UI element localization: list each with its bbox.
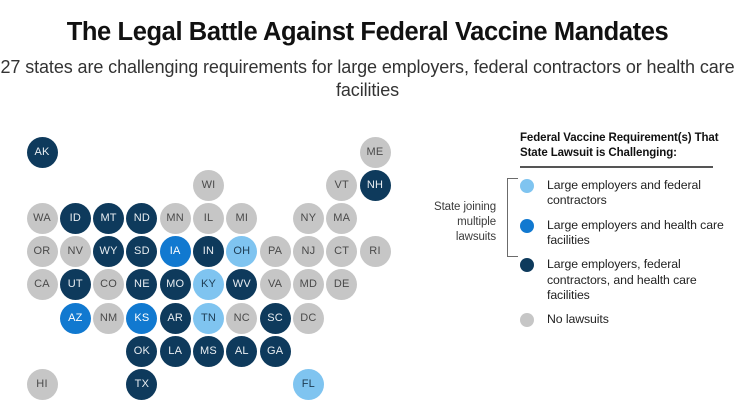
state-abbr-label: LA [168,346,182,357]
state-tile-il[interactable]: IL [193,203,224,234]
state-tile-mo[interactable]: MO [160,269,191,300]
state-abbr-label: NC [234,313,250,324]
state-tile-ms[interactable]: MS [193,336,224,367]
state-tile-wy[interactable]: WY [93,236,124,267]
state-abbr-label: AK [34,147,49,158]
state-abbr-label: HI [36,379,47,390]
state-tile-fl[interactable]: FL [293,369,324,400]
bracket-label: State joining multiple lawsuits [418,200,496,245]
state-tile-co[interactable]: CO [93,269,124,300]
state-tile-mi[interactable]: MI [226,203,257,234]
legend-item-employers-contractors-health[interactable]: Large employers, federal contractors, an… [520,257,730,303]
state-tile-tn[interactable]: TN [193,303,224,334]
state-tile-mn[interactable]: MN [160,203,191,234]
legend-item-label: Large employers, federal contractors, an… [547,257,730,303]
state-abbr-label: NE [134,279,150,290]
state-tile-ma[interactable]: MA [326,203,357,234]
legend-item-none[interactable]: No lawsuits [520,312,730,327]
legend-item-employers-contractors[interactable]: Large employers and federal contractors [520,178,730,209]
state-tile-ca[interactable]: CA [27,269,58,300]
state-abbr-label: NY [301,213,317,224]
state-abbr-label: OK [134,346,150,357]
state-abbr-label: MS [200,346,217,357]
state-abbr-label: TX [135,379,149,390]
legend-divider [520,166,713,168]
legend-item-label: Large employers and health care faciliti… [547,218,730,249]
state-tile-ga[interactable]: GA [260,336,291,367]
legend-swatch-icon [520,258,534,272]
state-abbr-label: ID [70,213,81,224]
state-abbr-label: NJ [301,246,315,257]
state-abbr-label: AL [235,346,249,357]
state-tile-ut[interactable]: UT [60,269,91,300]
state-abbr-label: FL [302,379,315,390]
legend: Federal Vaccine Requirement(s) That Stat… [520,131,730,337]
state-abbr-label: OR [34,246,51,257]
state-tile-nm[interactable]: NM [93,303,124,334]
multiple-lawsuits-annotation: State joining multiple lawsuits [418,178,518,263]
state-abbr-label: MD [300,279,318,290]
state-abbr-label: PA [268,246,282,257]
state-abbr-label: KY [201,279,216,290]
state-abbr-label: MT [100,213,116,224]
state-tile-al[interactable]: AL [226,336,257,367]
legend-item-label: Large employers and federal contractors [547,178,730,209]
legend-swatch-icon [520,313,534,327]
state-abbr-label: NM [100,313,118,324]
state-abbr-label: MN [166,213,184,224]
state-abbr-label: MO [166,279,184,290]
state-tile-md[interactable]: MD [293,269,324,300]
legend-items: Large employers and federal contractorsL… [520,178,730,328]
state-abbr-label: TN [201,313,216,324]
state-abbr-label: MA [333,213,350,224]
state-abbr-label: WY [100,246,118,257]
state-abbr-label: AZ [68,313,82,324]
state-tile-de[interactable]: DE [326,269,357,300]
legend-title: Federal Vaccine Requirement(s) That Stat… [520,131,730,161]
state-abbr-label: SC [267,313,283,324]
state-tile-mt[interactable]: MT [93,203,124,234]
state-tile-hi[interactable]: HI [27,369,58,400]
state-tile-ny[interactable]: NY [293,203,324,234]
state-tile-nj[interactable]: NJ [293,236,324,267]
state-tile-ky[interactable]: KY [193,269,224,300]
state-tile-ne[interactable]: NE [126,269,157,300]
legend-swatch-icon [520,219,534,233]
state-abbr-label: GA [267,346,283,357]
state-tile-sd[interactable]: SD [126,236,157,267]
state-tile-nh[interactable]: NH [360,170,391,201]
state-tile-ct[interactable]: CT [326,236,357,267]
state-tile-wa[interactable]: WA [27,203,58,234]
state-tile-ks[interactable]: KS [126,303,157,334]
state-tile-va[interactable]: VA [260,269,291,300]
state-tile-la[interactable]: LA [160,336,191,367]
state-tile-ar[interactable]: AR [160,303,191,334]
state-tile-me[interactable]: ME [360,137,391,168]
state-tile-id[interactable]: ID [60,203,91,234]
state-abbr-label: RI [369,246,380,257]
state-abbr-label: CA [34,279,50,290]
state-abbr-label: DE [334,279,350,290]
legend-swatch-icon [520,179,534,193]
state-tile-nd[interactable]: ND [126,203,157,234]
state-abbr-label: NH [367,180,383,191]
state-abbr-label: SD [134,246,150,257]
state-abbr-label: AR [167,313,183,324]
state-abbr-label: ME [367,147,384,158]
state-abbr-label: IA [170,246,181,257]
state-abbr-label: WA [33,213,51,224]
state-tile-map: AKMEWIVTNHWAIDMTNDMNILMINYMAORNVWYSDIAIN… [0,0,420,412]
bracket-icon [507,178,518,257]
state-tile-nv[interactable]: NV [60,236,91,267]
state-tile-pa[interactable]: PA [260,236,291,267]
state-tile-wv[interactable]: WV [226,269,257,300]
state-tile-sc[interactable]: SC [260,303,291,334]
state-tile-ok[interactable]: OK [126,336,157,367]
state-tile-ak[interactable]: AK [27,137,58,168]
state-abbr-label: CO [100,279,117,290]
state-abbr-label: VT [334,180,348,191]
legend-item-label: No lawsuits [547,312,609,327]
state-tile-dc[interactable]: DC [293,303,324,334]
state-abbr-label: KS [134,313,149,324]
state-tile-wi[interactable]: WI [193,170,224,201]
state-tile-oh[interactable]: OH [226,236,257,267]
state-abbr-label: IL [204,213,214,224]
state-abbr-label: NV [67,246,83,257]
state-abbr-label: VA [268,279,282,290]
state-tile-vt[interactable]: VT [326,170,357,201]
state-abbr-label: ND [134,213,150,224]
state-tile-or[interactable]: OR [27,236,58,267]
state-abbr-label: DC [300,313,316,324]
state-tile-in[interactable]: IN [193,236,224,267]
legend-item-employers-health[interactable]: Large employers and health care faciliti… [520,218,730,249]
state-abbr-label: WI [202,180,216,191]
state-tile-ia[interactable]: IA [160,236,191,267]
state-abbr-label: OH [233,246,250,257]
state-tile-tx[interactable]: TX [126,369,157,400]
state-tile-az[interactable]: AZ [60,303,91,334]
state-abbr-label: UT [68,279,83,290]
state-tile-ri[interactable]: RI [360,236,391,267]
state-abbr-label: IN [203,246,214,257]
state-tile-nc[interactable]: NC [226,303,257,334]
state-abbr-label: MI [235,213,248,224]
state-abbr-label: CT [334,246,349,257]
state-abbr-label: WV [233,279,251,290]
